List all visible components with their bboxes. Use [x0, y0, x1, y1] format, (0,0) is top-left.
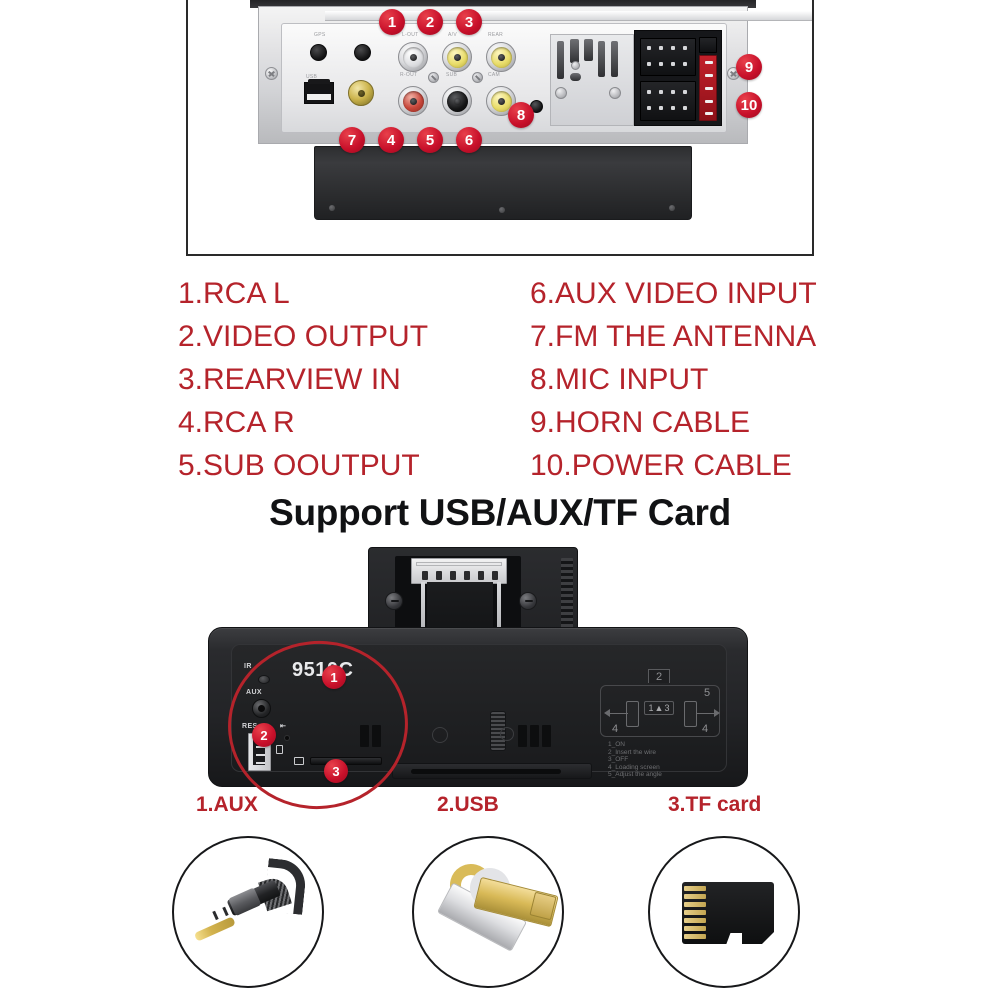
iso-aux-block — [699, 37, 717, 53]
diagram-chip-triangle-icon: ▲ — [655, 703, 664, 713]
chassis-screw-left — [265, 67, 278, 80]
mount-step-5: 5_Adjust the angle — [608, 771, 728, 779]
mount-step-3: 3_OFF — [608, 756, 728, 764]
tf-card-contacts — [684, 886, 706, 940]
mount-step-1: 1_ON — [608, 741, 728, 749]
legend-item-7: 7.FM THE ANTENNA — [530, 315, 817, 358]
bottom-label-tf: 3.TF card — [668, 793, 761, 817]
vent-slot — [584, 39, 593, 61]
diagram-number-4-right: 4 — [702, 723, 708, 735]
lower-callout-badge-2: 2 — [252, 723, 276, 747]
diagram-arrow-right-line — [696, 713, 716, 714]
rca-pin — [498, 54, 505, 61]
legend-column-right: 6.AUX VIDEO INPUT 7.FM THE ANTENNA 8.MIC… — [530, 272, 817, 487]
rca-pin — [410, 98, 417, 105]
ribbon-pin — [436, 571, 442, 580]
legend-item-1: 1.RCA L — [178, 272, 428, 315]
ribbon-connector-bar — [416, 562, 502, 566]
aux-hole — [354, 44, 371, 61]
usb-port-tongue — [307, 94, 331, 100]
rear-panel-plate: GPS USB L-OUT A/V REAR R-OUT SUB CAM — [281, 23, 727, 133]
panel-label-sub: SUB — [446, 72, 457, 78]
diagram-arrow-left-line — [608, 713, 628, 714]
stereo-chassis: GPS USB L-OUT A/V REAR R-OUT SUB CAM — [258, 6, 748, 144]
rca-ring-yellow — [447, 47, 468, 68]
iso-pin — [683, 46, 687, 50]
iso-pin — [647, 46, 651, 50]
tf-contact — [684, 926, 706, 931]
tf-card-body — [682, 882, 774, 944]
fuse-slot — [705, 61, 713, 64]
usb-drive-photo — [412, 836, 564, 988]
usb-port-cap — [308, 79, 330, 84]
iso-pin — [659, 46, 663, 50]
callout-badge-3: 3 — [456, 9, 482, 35]
fuse-slot — [705, 87, 713, 90]
bottom-label-usb: 2.USB — [437, 793, 499, 817]
legend-item-8: 8.MIC INPUT — [530, 358, 817, 401]
iso-horn-connector — [640, 38, 696, 76]
iso-pin — [659, 62, 663, 66]
vent-slot — [598, 41, 605, 77]
fuse-slot — [705, 112, 713, 115]
rca-ring-black — [447, 91, 468, 112]
vent-slot — [570, 39, 579, 63]
body-vent — [518, 725, 527, 747]
tf-contact — [684, 886, 706, 891]
legend-item-5: 5.SUB OOUTPUT — [178, 444, 428, 487]
product-spec-page: GPS USB L-OUT A/V REAR R-OUT SUB CAM — [0, 0, 1000, 1000]
rca-ring-white — [403, 47, 424, 68]
panel-label-gps: GPS — [314, 32, 325, 38]
panel-label-lout: L-OUT — [402, 32, 419, 38]
diagram-number-2: 2 — [656, 671, 662, 683]
tf-card-photo — [648, 836, 800, 988]
iso-pin — [683, 106, 687, 110]
aux-plug-photo — [172, 836, 324, 988]
gps-hole — [310, 44, 327, 61]
body-circle-mark — [432, 727, 448, 743]
legend-item-10: 10.POWER CABLE — [530, 444, 817, 487]
panel-mini-screw-left — [428, 72, 439, 83]
legend-item-4: 4.RCA R — [178, 401, 428, 444]
aux-plug-band — [222, 907, 228, 916]
mounting-tray — [314, 146, 692, 220]
diagram-chip-left-num: 1 — [649, 703, 654, 713]
ribbon-pin — [478, 571, 484, 580]
legend-item-3: 3.REARVIEW IN — [178, 358, 428, 401]
ribbon-pin — [464, 571, 470, 580]
body-circle-mark — [500, 727, 514, 741]
tray-screw — [499, 207, 505, 213]
tf-contact — [684, 910, 706, 915]
iso-pin — [671, 106, 675, 110]
iso-pin — [647, 62, 651, 66]
legend-item-2: 2.VIDEO OUTPUT — [178, 315, 428, 358]
callout-badge-9: 9 — [736, 54, 762, 80]
tf-card-notch — [726, 933, 742, 945]
iso-pin — [671, 62, 675, 66]
aux-plug-band — [212, 911, 218, 920]
tf-card-corner-cut — [761, 931, 775, 945]
panel-mini-screw-right — [472, 72, 483, 83]
rca-pin — [410, 54, 417, 61]
bracket-knob — [571, 61, 580, 70]
callout-badge-5: 5 — [417, 127, 443, 153]
legend-item-6: 6.AUX VIDEO INPUT — [530, 272, 817, 315]
vent-slot — [557, 41, 564, 79]
usb-port — [304, 82, 334, 104]
legend-item-9: 9.HORN CABLE — [530, 401, 817, 444]
iso-pin — [683, 90, 687, 94]
callout-badge-4: 4 — [378, 127, 404, 153]
diagram-center-chip: 1 ▲ 3 — [644, 701, 674, 715]
callout-badge-8: 8 — [508, 102, 534, 128]
mount-step-4: 4_Loading screen — [608, 764, 728, 772]
panel-label-av: A/V — [448, 32, 457, 38]
bracket-screw-left — [555, 87, 567, 99]
tray-screw — [669, 205, 675, 211]
ribbon-connector — [411, 558, 507, 584]
rca-ring-red — [403, 91, 424, 112]
bracket-screw-right — [609, 87, 621, 99]
legend-column-left: 1.RCA L 2.VIDEO OUTPUT 3.REARVIEW IN 4.R… — [178, 272, 428, 487]
lower-callout-badge-1: 1 — [322, 665, 346, 689]
diagram-chip-right-num: 3 — [664, 703, 669, 713]
fm-antenna-jack — [348, 80, 374, 106]
fuse-slot — [705, 100, 713, 103]
iso-pin — [671, 46, 675, 50]
ribbon-pin — [422, 571, 428, 580]
vent-slot — [611, 41, 618, 77]
rca-jack-right-out — [398, 86, 428, 116]
diagram-arrow-left-head — [604, 709, 610, 717]
fuse-slot — [705, 74, 713, 77]
panel-label-rout: R-OUT — [400, 72, 417, 78]
rca-pin — [498, 98, 505, 105]
body-vent — [542, 725, 551, 747]
rca-jack-left-out — [398, 42, 428, 72]
diagram-number-4-left: 4 — [612, 723, 618, 735]
diagram-arrow-right-head — [714, 709, 720, 717]
diagram-number-5: 5 — [704, 687, 710, 699]
rca-ring-yellow — [491, 47, 512, 68]
iso-pin — [659, 106, 663, 110]
rear-panel-photo-frame: GPS USB L-OUT A/V REAR R-OUT SUB CAM — [186, 0, 814, 256]
slide-rail — [392, 763, 592, 779]
mount-instruction-steps: 1_ON 2_Insert the wire 3_OFF 4_Loading s… — [608, 741, 728, 779]
panel-label-cam: CAM — [488, 72, 500, 78]
iso-pin — [671, 90, 675, 94]
callout-badge-7: 7 — [339, 127, 365, 153]
ribbon-pin — [450, 571, 456, 580]
body-vent — [530, 725, 539, 747]
rca-pin — [454, 54, 461, 61]
bottom-label-aux: 1.AUX — [196, 793, 258, 817]
panel-label-rear: REAR — [488, 32, 503, 38]
callout-badge-6: 6 — [456, 127, 482, 153]
rca-jack-video-out — [442, 42, 472, 72]
aux-plug-tip — [194, 916, 236, 941]
iso-connector-block — [634, 30, 722, 126]
callout-badge-2: 2 — [417, 9, 443, 35]
mount-step-2: 2_Insert the wire — [608, 749, 728, 757]
tf-contact — [684, 918, 706, 923]
vent-bracket — [550, 34, 634, 126]
support-heading: Support USB/AUX/TF Card — [0, 492, 1000, 534]
front-unit-photo: 9510C IR AUX RES ⇤ — [200, 543, 820, 793]
iso-pin — [659, 90, 663, 94]
ribbon-pin — [492, 571, 498, 580]
callout-badge-1: 1 — [379, 9, 405, 35]
rca-jack-sub-out — [442, 86, 472, 116]
iso-pin — [683, 62, 687, 66]
tf-contact — [684, 902, 706, 907]
iso-pin — [647, 106, 651, 110]
callout-badge-10: 10 — [736, 92, 762, 118]
tray-screw — [329, 205, 335, 211]
iso-pin — [647, 90, 651, 94]
rca-pin — [454, 98, 461, 105]
vent-slot — [570, 73, 581, 81]
tf-contact — [684, 894, 706, 899]
rca-jack-rearview-in — [486, 42, 516, 72]
mount-diagram: 2 5 1 ▲ 3 4 4 — [600, 671, 728, 771]
fuse-holder — [699, 55, 717, 121]
cradle-screw-right — [519, 592, 537, 610]
lower-callout-badge-3: 3 — [324, 759, 348, 783]
cradle-screw-left — [385, 592, 403, 610]
tf-contact — [684, 934, 706, 939]
iso-power-connector — [640, 81, 696, 121]
